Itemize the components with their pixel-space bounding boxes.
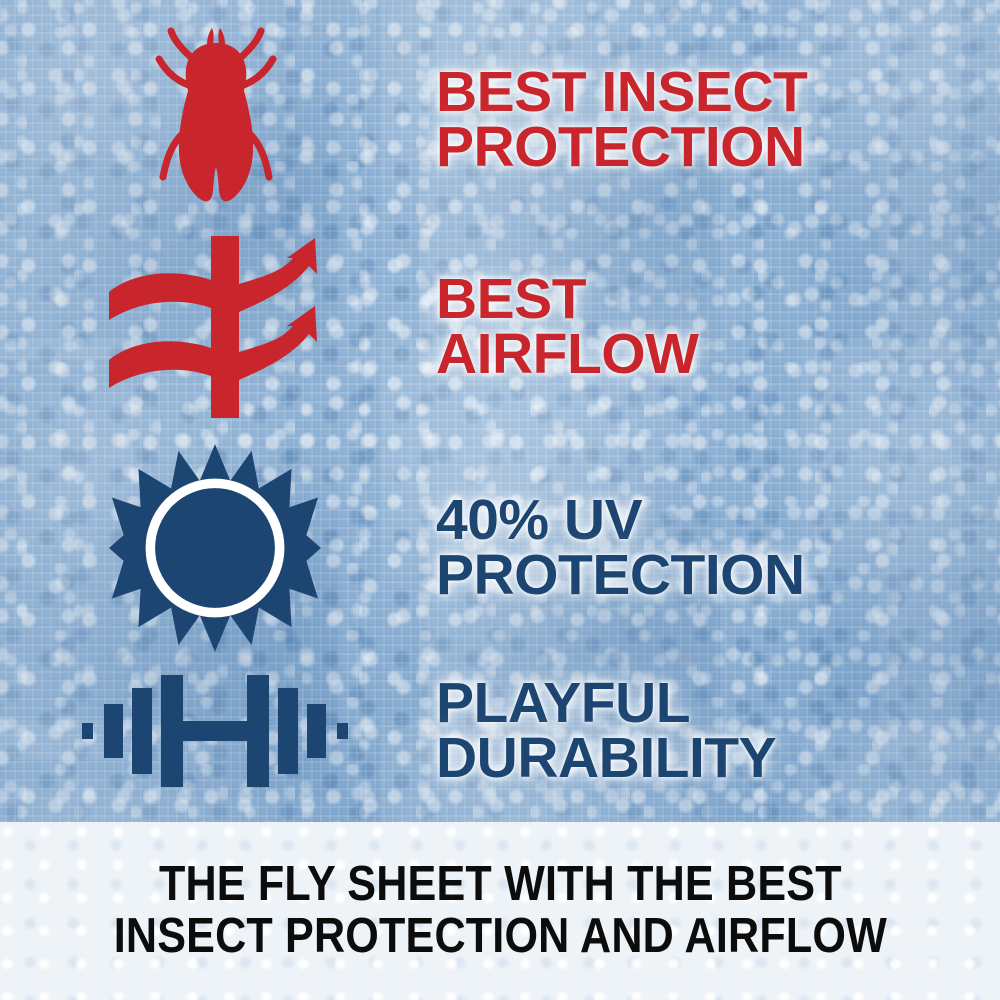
text-cell-uv: 40% UV PROTECTION [430, 493, 1000, 604]
barbell-icon [80, 666, 350, 796]
icon-cell-durability [0, 666, 430, 796]
feature-row-airflow: BEST AIRFLOW [0, 222, 1000, 432]
feature-label-airflow: BEST AIRFLOW [436, 272, 1000, 383]
fly-icon [145, 25, 285, 215]
bottom-tagline-banner: THE FLY SHEET WITH THE BEST INSECT PROTE… [0, 822, 1000, 1000]
feature-label-durability: PLAYFUL DURABILITY [436, 676, 1000, 787]
icon-cell-airflow [0, 232, 430, 422]
product-feature-infographic: BEST INSECT PROTECTION BEST AIRFL [0, 0, 1000, 1000]
feature-row-uv-protection: 40% UV PROTECTION [0, 438, 1000, 658]
icon-cell-insect [0, 25, 430, 215]
sun-icon [109, 442, 321, 654]
text-cell-durability: PLAYFUL DURABILITY [430, 676, 1000, 787]
feature-label-uv-protection: 40% UV PROTECTION [436, 493, 1000, 604]
feature-row-durability: PLAYFUL DURABILITY [0, 656, 1000, 806]
feature-row-insect-protection: BEST INSECT PROTECTION [0, 20, 1000, 220]
text-cell-airflow: BEST AIRFLOW [430, 272, 1000, 383]
feature-label-insect-protection: BEST INSECT PROTECTION [436, 65, 1000, 176]
text-cell-insect: BEST INSECT PROTECTION [430, 65, 1000, 176]
icon-cell-uv [0, 442, 430, 654]
tagline-text: THE FLY SHEET WITH THE BEST INSECT PROTE… [113, 859, 886, 963]
airflow-arrows-icon [103, 232, 328, 422]
